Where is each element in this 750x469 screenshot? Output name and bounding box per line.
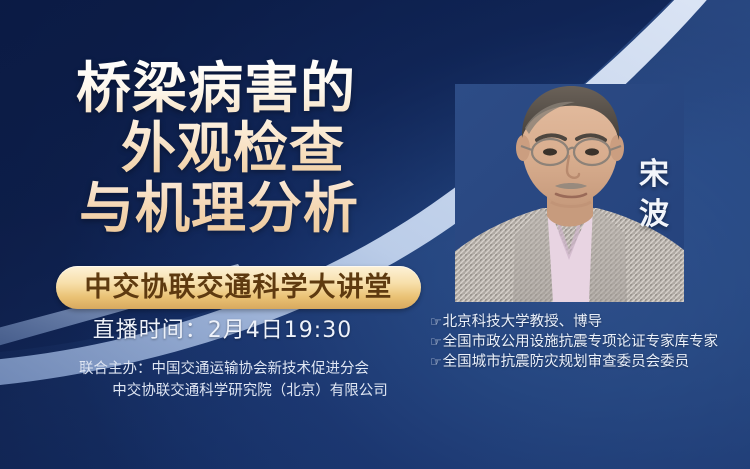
organizer-line-1: 联合主办：中国交通运输协会新技术促进分会 xyxy=(0,358,448,380)
poster-title: 桥梁病害的 外观检查 与机理分析 xyxy=(0,58,432,238)
speaker-name-char-1: 宋 xyxy=(633,155,675,195)
title-line-3: 与机理分析 xyxy=(0,178,432,238)
live-time-label: 直播时间：2月4日19:30 xyxy=(0,312,445,344)
series-banner: 中交协联交通科学大讲堂 xyxy=(56,266,421,309)
credential-text: 全国城市抗震防灾规划审查委员会委员 xyxy=(443,353,690,372)
pointing-hand-icon: ☞ xyxy=(430,353,442,372)
credential-text: 北京科技大学教授、博导 xyxy=(443,313,603,332)
credential-item: ☞ 全国市政公用设施抗震专项论证专家库专家 xyxy=(430,333,750,352)
credential-item: ☞ 北京科技大学教授、博导 xyxy=(430,313,750,332)
series-banner-label: 中交协联交通科学大讲堂 xyxy=(85,274,393,301)
title-line-1: 桥梁病害的 xyxy=(0,58,432,118)
webinar-poster: 桥梁病害的 外观检查 与机理分析 中交协联交通科学大讲堂 直播时间：2月4日19… xyxy=(0,0,750,469)
credential-item: ☞ 全国城市抗震防灾规划审查委员会委员 xyxy=(430,353,750,372)
left-content-column: 桥梁病害的 外观检查 与机理分析 中交协联交通科学大讲堂 直播时间：2月4日19… xyxy=(0,0,450,469)
pointing-hand-icon: ☞ xyxy=(430,313,442,332)
organizer-line-2: 中交协联交通科学研究院（北京）有限公司 xyxy=(0,380,448,402)
credential-text: 全国市政公用设施抗震专项论证专家库专家 xyxy=(443,333,719,352)
speaker-name: 宋 波 xyxy=(633,155,675,235)
speaker-credentials: ☞ 北京科技大学教授、博导 ☞ 全国市政公用设施抗震专项论证专家库专家 ☞ 全国… xyxy=(430,313,750,373)
title-line-2: 外观检查 xyxy=(0,118,432,178)
speaker-name-char-2: 波 xyxy=(633,195,675,235)
organizer-block: 联合主办：中国交通运输协会新技术促进分会 中交协联交通科学研究院（北京）有限公司 xyxy=(0,358,448,402)
pointing-hand-icon: ☞ xyxy=(430,333,442,352)
